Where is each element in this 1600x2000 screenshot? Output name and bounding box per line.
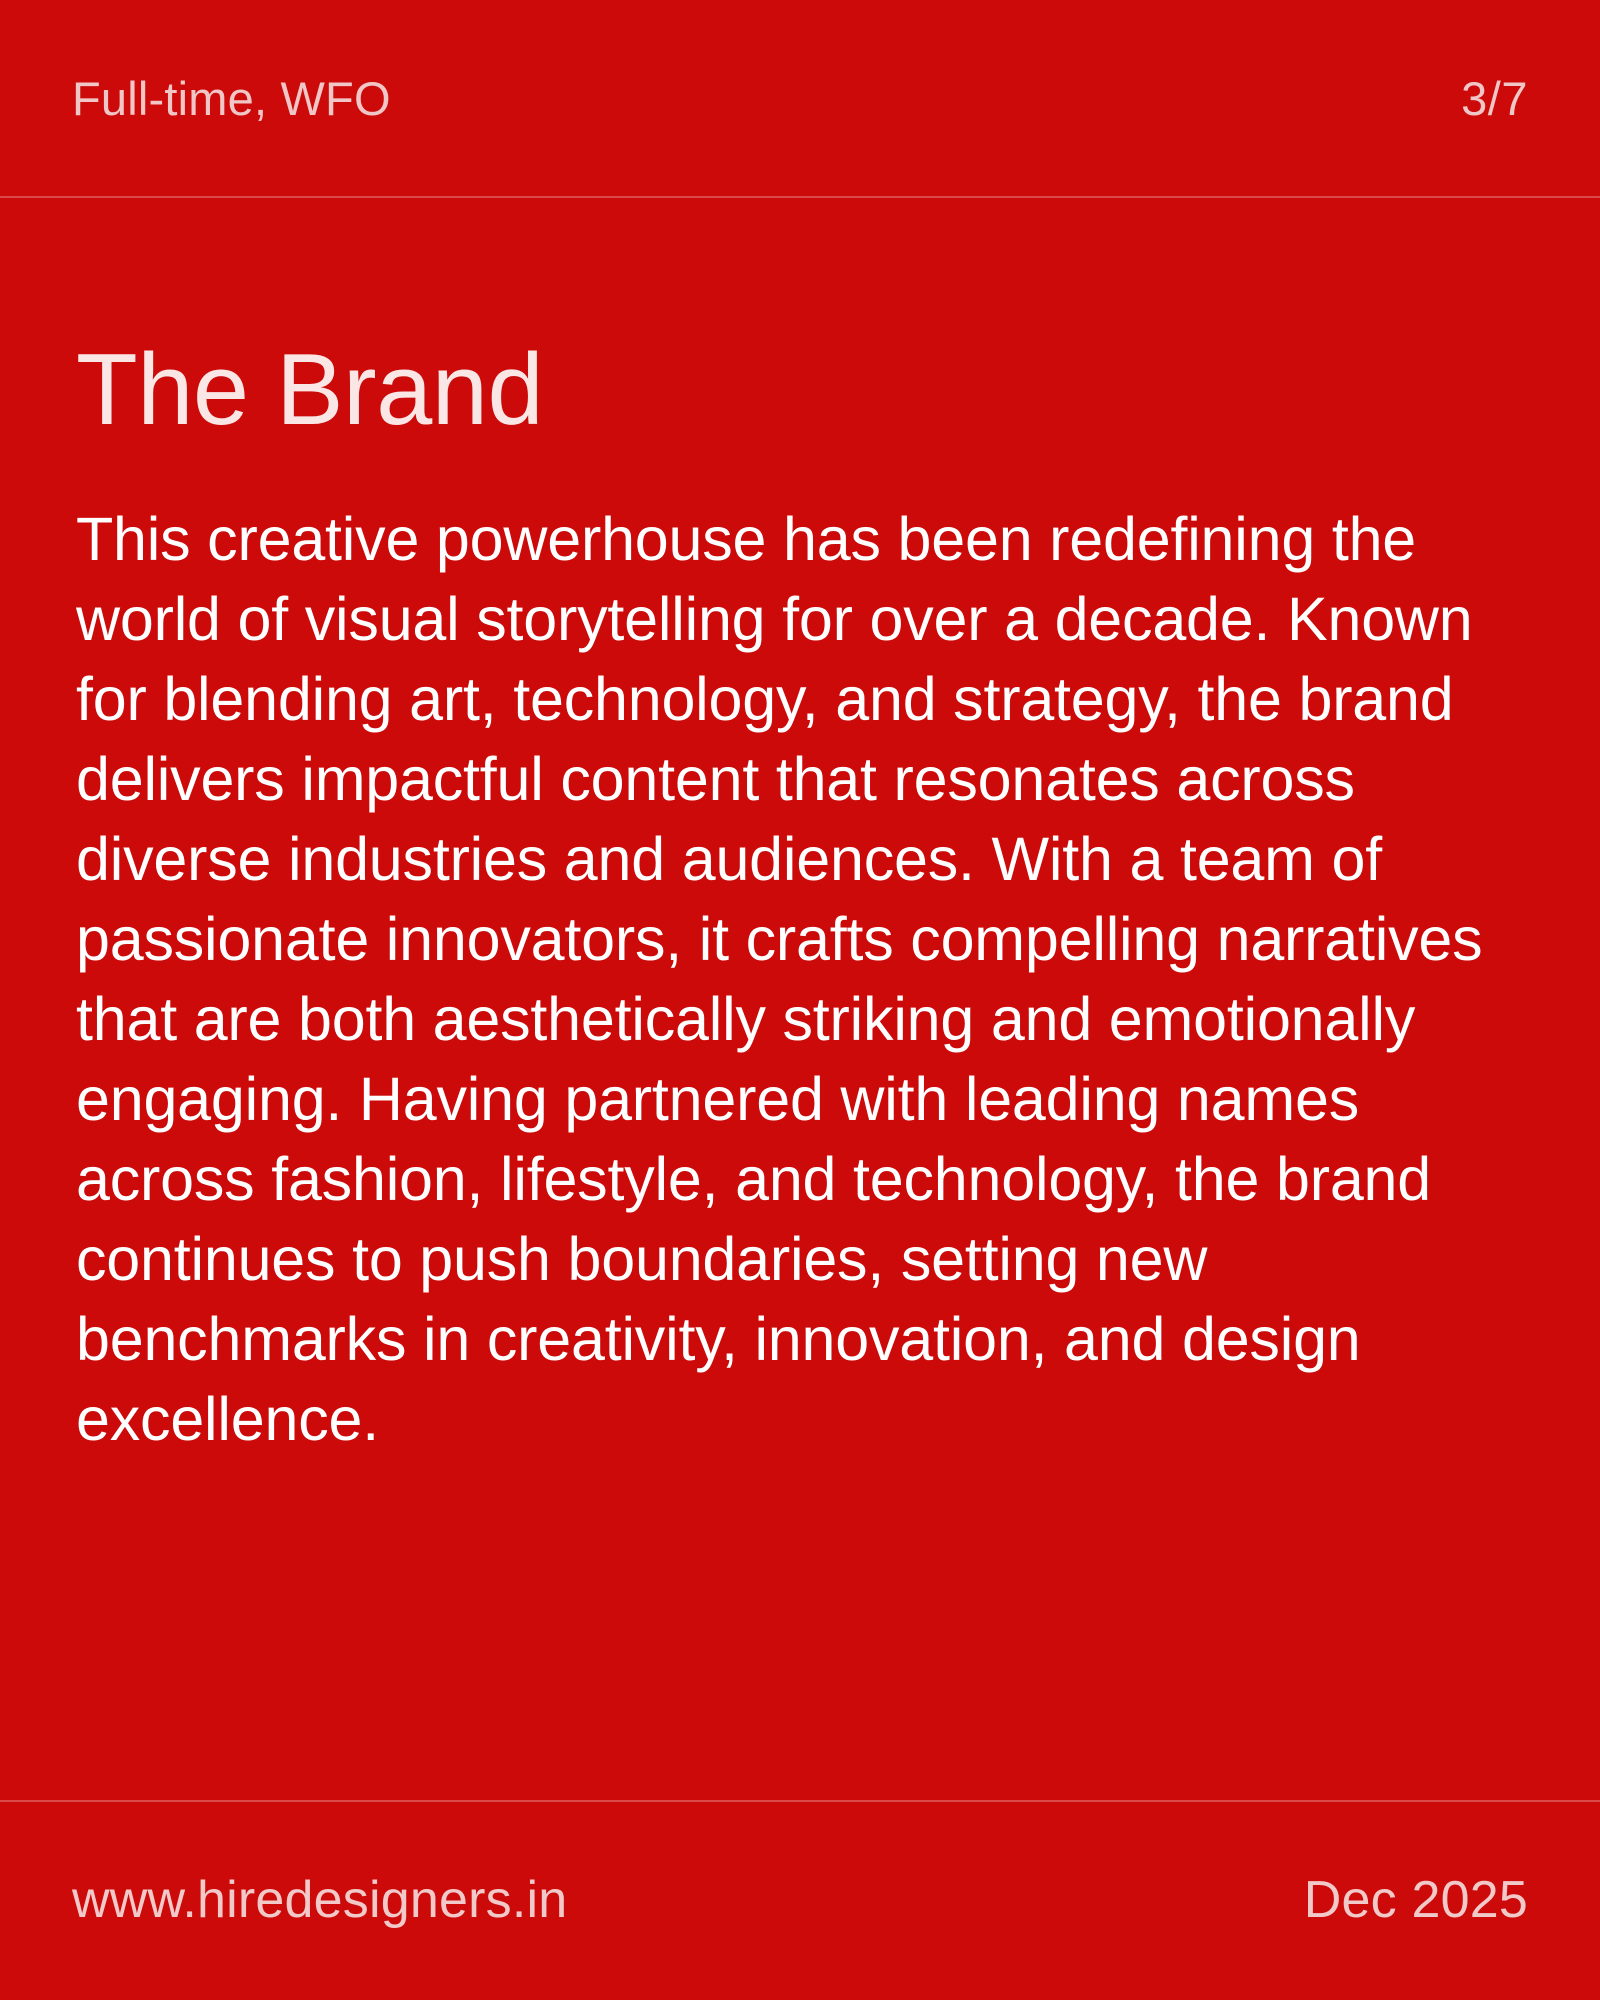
page-title: The Brand (76, 340, 1528, 441)
page-indicator: 3/7 (1461, 75, 1528, 122)
employment-type-label: Full-time, WFO (72, 75, 391, 122)
slide-header: Full-time, WFO 3/7 (0, 0, 1600, 196)
date-label: Dec 2025 (1304, 1874, 1528, 1926)
slide-footer: www.hiredesigners.in Dec 2025 (0, 1800, 1600, 2000)
slide-root: Full-time, WFO 3/7 The Brand This creati… (0, 0, 1600, 2000)
body-paragraph: This creative powerhouse has been redefi… (76, 499, 1528, 1459)
slide-main-content: The Brand This creative powerhouse has b… (0, 196, 1600, 1800)
website-url[interactable]: www.hiredesigners.in (72, 1874, 567, 1926)
